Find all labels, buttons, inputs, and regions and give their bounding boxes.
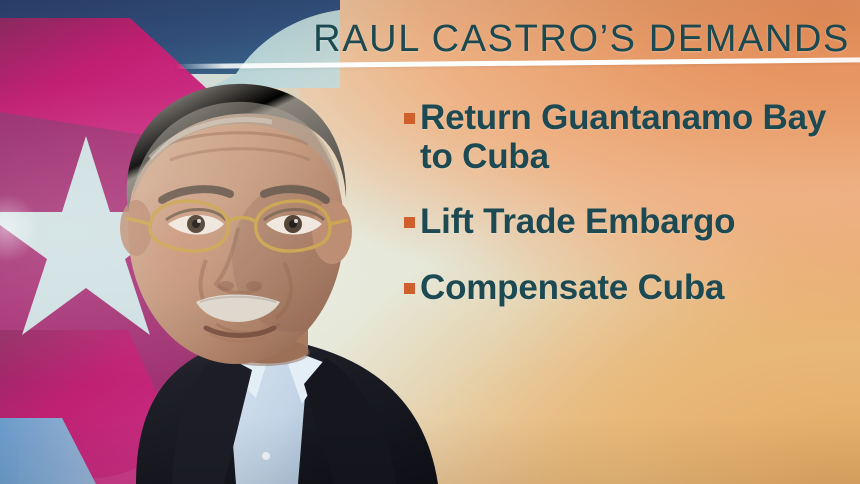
- demands-list: Return Guantanamo Bay to Cuba Lift Trade…: [404, 98, 860, 307]
- page-title: RAUL CASTRO’S DEMANDS: [300, 14, 856, 64]
- demand-text: Lift Trade Embargo: [420, 202, 735, 241]
- demand-text: Compensate Cuba: [420, 268, 724, 307]
- ear-left: [120, 200, 152, 256]
- broadcast-graphic: RAUL CASTRO’S DEMANDS Return Guantanamo …: [0, 0, 860, 484]
- bullet-square-icon: [404, 217, 415, 228]
- bullet-square-icon: [404, 283, 415, 294]
- list-item: Compensate Cuba: [404, 268, 860, 307]
- demand-text: Return Guantanamo Bay to Cuba: [420, 98, 860, 176]
- list-item: Return Guantanamo Bay to Cuba: [404, 98, 860, 176]
- ear-right: [312, 200, 352, 264]
- list-item: Lift Trade Embargo: [404, 202, 860, 241]
- bullet-square-icon: [404, 113, 415, 124]
- shirt-button: [262, 452, 270, 460]
